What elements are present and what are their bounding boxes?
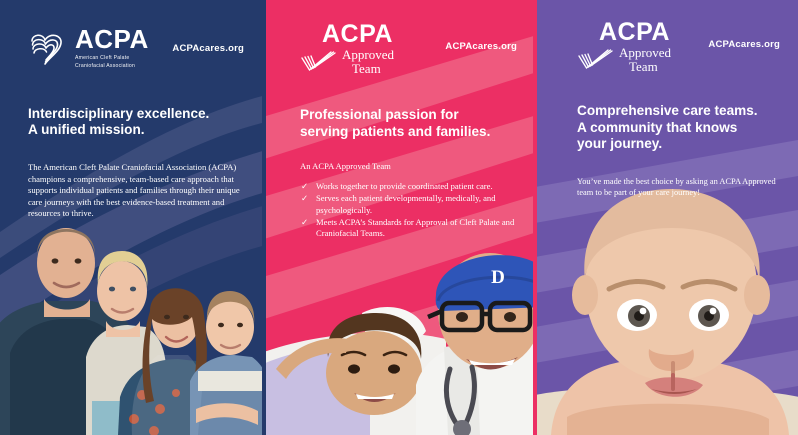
panel-interdisciplinary: ACPA American Cleft Palate Craniofacial … [0, 0, 266, 435]
infant-photo [537, 177, 798, 435]
seam-navy-pink [262, 0, 266, 435]
check-icon: ✓ [301, 193, 308, 204]
website-url-panel3[interactable]: ACPAcares.org [708, 20, 780, 50]
panel1-header: ACPA American Cleft Palate Craniofacial … [0, 0, 266, 71]
panel1-headline-line2: A unified mission. [28, 122, 246, 139]
clinician-and-patient-photo: D [266, 207, 537, 435]
checklist-item: ✓ Works together to provide coordinated … [300, 181, 523, 192]
panel3-header: ACPA [537, 0, 798, 74]
panel-professional-passion: D [266, 0, 537, 435]
checklist-item-label: Works together to provide coordinated pa… [316, 181, 493, 191]
panel2-headline-line1: Professional passion for [300, 107, 521, 124]
approved-label: Approved [342, 48, 394, 62]
approved-team-checklist: ✓ Works together to provide coordinated … [266, 181, 537, 239]
panel1-headline-line1: Interdisciplinary excellence. [28, 106, 246, 123]
acpa-wordmark: ACPA [300, 22, 394, 47]
family-photo [0, 195, 266, 435]
panel2-header: ACPA [266, 0, 537, 76]
seam-pink-purple [533, 0, 537, 435]
checklist-item-label: Meets ACPA’s Standards for Approval of C… [316, 217, 514, 238]
acpa-heart-swoosh-icon [28, 29, 68, 67]
panel3-headline-line2: A community that knows [577, 120, 782, 137]
panel3-headline-line3: your journey. [577, 136, 782, 153]
checklist-item: ✓ Meets ACPA’s Standards for Approval of… [300, 217, 523, 239]
acpa-approved-team-logo-purple: ACPA [577, 20, 671, 74]
panel3-body-text: You’ve made the best choice by asking an… [537, 162, 798, 199]
checklist-item: ✓ Serves each patient developmentally, m… [300, 193, 523, 215]
acpa-approved-team-logo-pink: ACPA [300, 22, 394, 76]
website-url-panel1[interactable]: ACPAcares.org [172, 26, 244, 54]
panel-comprehensive-care: ACPA [537, 0, 798, 435]
acpa-approved-team-swoosh-icon [577, 49, 613, 71]
website-url-panel2[interactable]: ACPAcares.org [445, 22, 517, 52]
brochure-board: ACPA American Cleft Palate Craniofacial … [0, 0, 798, 435]
panel2-intro-text: An ACPA Approved Team [266, 149, 537, 172]
panel2-headline: Professional passion for serving patient… [266, 85, 537, 140]
svg-text:D: D [491, 267, 505, 288]
approved-label: Approved [619, 46, 671, 60]
panel2-headline-line2: serving patients and families. [300, 124, 521, 141]
panel1-body-text: The American Cleft Palate Craniofacial A… [0, 148, 266, 220]
check-icon: ✓ [301, 217, 308, 228]
team-label: Team [619, 60, 671, 74]
panel3-content: ACPA [537, 0, 798, 199]
panel2-content: ACPA [266, 0, 537, 239]
acpa-approved-team-swoosh-icon [300, 51, 336, 73]
check-icon: ✓ [301, 181, 308, 192]
panel3-headline: Comprehensive care teams. A community th… [537, 83, 798, 153]
checklist-item-label: Serves each patient developmentally, med… [316, 193, 496, 214]
acpa-logo-subtext-line1: American Cleft Palate [75, 55, 149, 63]
acpa-logo-subtext-line2: Craniofacial Association [75, 63, 149, 71]
acpa-wordmark: ACPA [75, 26, 149, 52]
acpa-logo: ACPA American Cleft Palate Craniofacial … [28, 26, 149, 71]
team-label: Team [342, 62, 394, 76]
acpa-wordmark: ACPA [577, 20, 671, 45]
panel1-content: ACPA American Cleft Palate Craniofacial … [0, 0, 266, 220]
panel3-headline-line1: Comprehensive care teams. [577, 103, 782, 120]
panel1-headline: Interdisciplinary excellence. A unified … [0, 80, 266, 139]
